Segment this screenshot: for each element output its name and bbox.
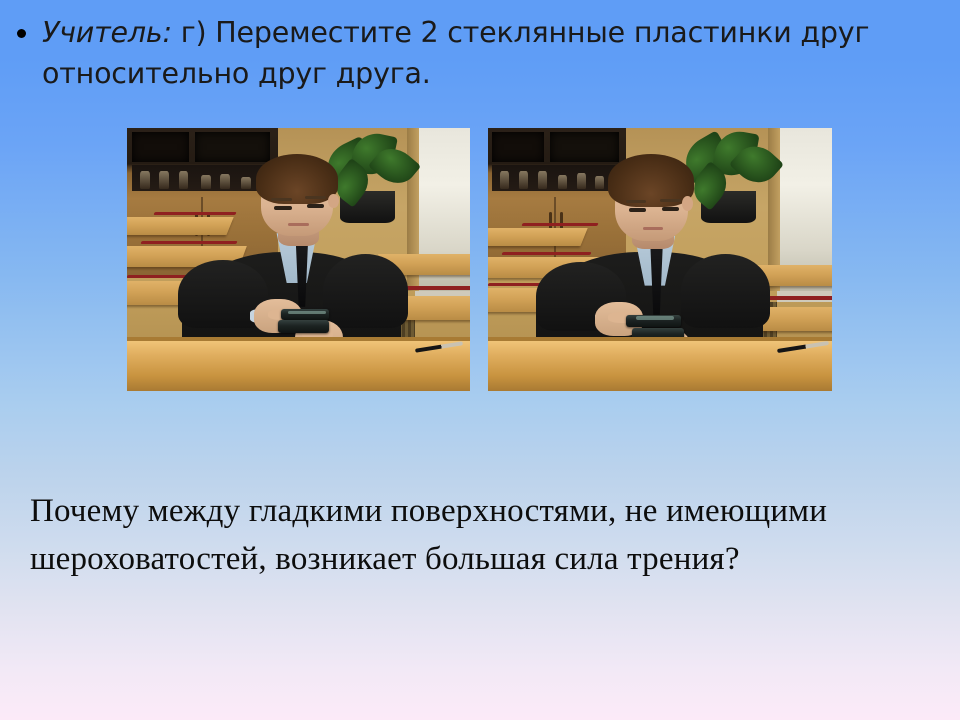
cabinet-glass-pane-right: [195, 132, 270, 162]
student-shoulder-right: [323, 254, 409, 328]
cabinet-glass-pane-left: [492, 132, 544, 162]
student-eye: [307, 204, 324, 208]
student-shoulder-right: [681, 254, 770, 328]
desk-rail: [154, 212, 238, 215]
shelf-jar: [179, 171, 189, 189]
speaker-label: Учитель:: [42, 16, 172, 49]
shelf-jar: [159, 171, 169, 189]
shelf-jar: [577, 173, 586, 189]
desk-rail: [522, 223, 599, 226]
student-eye: [662, 207, 679, 211]
bullet-text: Учитель: г) Переместите 2 стеклянные пла…: [42, 12, 922, 94]
desk-back: [488, 228, 588, 246]
shelf-jar: [500, 171, 509, 189]
student-eye: [274, 206, 291, 210]
classroom-scene-right: [488, 128, 832, 391]
question-text: Почему между гладкими поверхностями, не …: [30, 487, 935, 583]
student-brow: [626, 200, 647, 203]
desk-rail: [501, 252, 592, 255]
glass-plate-highlight: [288, 311, 326, 315]
shelf-jar: [538, 171, 547, 189]
student-mouth: [288, 223, 309, 226]
classroom-scene-left: [127, 128, 470, 391]
shelf-jar: [140, 171, 150, 189]
cabinet-shelf: [132, 165, 271, 190]
cabinet-shelf: [492, 165, 619, 190]
desk-back: [127, 217, 234, 235]
student-brow: [660, 199, 681, 202]
shelf-jar: [519, 171, 528, 189]
cabinet-glass-pane-right: [550, 132, 619, 162]
student-ear: [328, 194, 339, 208]
student-brow: [305, 196, 326, 199]
student-hair: [608, 154, 694, 207]
bullet-point-icon: [17, 29, 26, 38]
slide-canvas: Учитель: г) Переместите 2 стеклянные пла…: [0, 0, 960, 720]
cabinet-glass-pane-left: [132, 132, 189, 162]
student-mouth: [643, 227, 664, 230]
student-eye: [629, 208, 646, 212]
shelf-jar: [220, 174, 230, 190]
shelf-jar: [201, 175, 211, 189]
shelf-jar: [558, 175, 567, 190]
student-brow: [271, 198, 292, 201]
bullet-paragraph: Учитель: г) Переместите 2 стеклянные пла…: [10, 12, 940, 94]
photo-right: [488, 128, 832, 391]
shelf-jar: [595, 176, 604, 189]
shelf-jar: [241, 177, 251, 190]
photo-left: [127, 128, 470, 391]
glass-plate-highlight: [636, 316, 674, 320]
desk-rail: [140, 241, 237, 244]
glass-plate-lower: [278, 320, 329, 333]
